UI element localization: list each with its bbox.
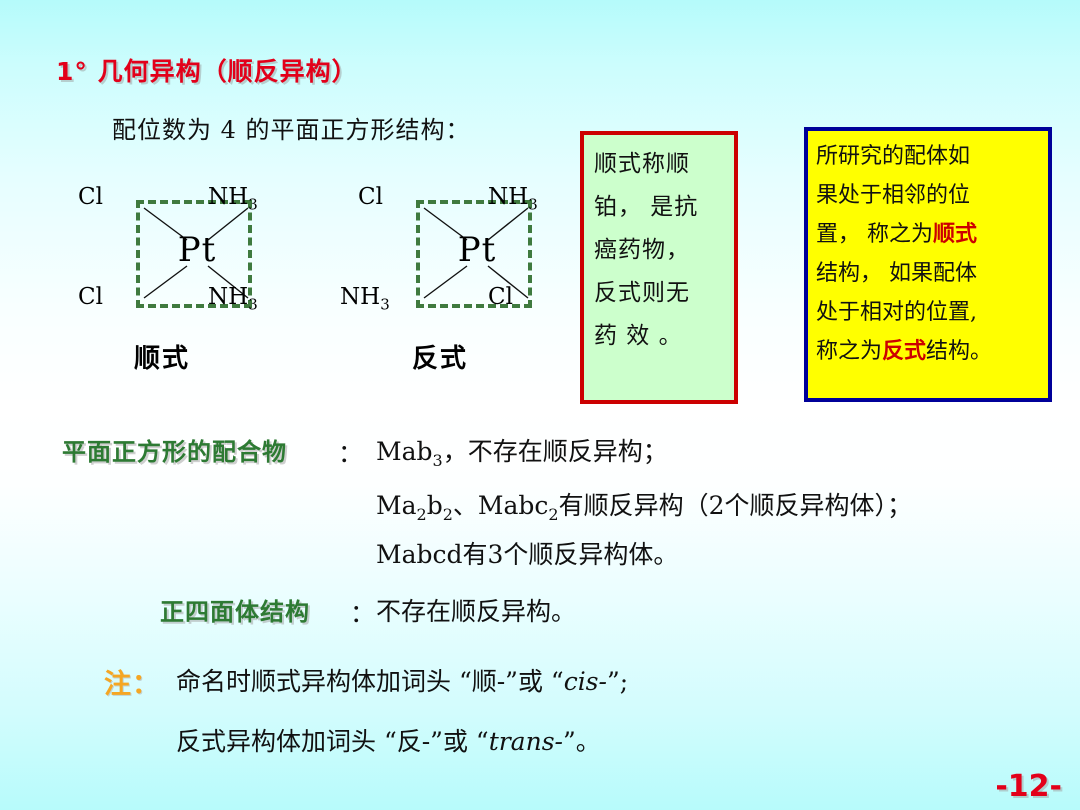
yellow-box-line6-pre: 称之为	[816, 339, 882, 364]
center-atom-label: Pt	[82, 230, 312, 270]
yellow-box-line: 处于相对的位置,	[816, 293, 1040, 332]
yellow-box-line: 称之为反式结构。	[816, 332, 1040, 371]
green-box-line: 癌药物，	[594, 229, 724, 272]
ligand-bottom-left: NH3	[340, 284, 390, 314]
body-line-mab3-text: ，不存在顺反异构；	[443, 437, 668, 466]
note-line-cis-pre: 命名时顺式异构体加词头 “顺-”或 “	[176, 667, 564, 696]
label-tetrahedral: 正四面体结构	[160, 592, 310, 627]
ligand-bottom-right-text: NH	[208, 284, 248, 310]
formula-mab-sub: 3	[433, 451, 443, 470]
green-box-line: 铂， 是抗	[594, 186, 724, 229]
ligand-top-left: Cl	[78, 184, 103, 210]
formula-mabc: 、Mabc	[453, 491, 549, 520]
ligand-bottom-left-sub: 3	[380, 296, 390, 314]
ligand-top-left-text: Cl	[78, 184, 103, 210]
ligand-top-right-text: NH	[208, 184, 248, 210]
label-tetrahedral-text: 正四面体结构	[160, 598, 310, 626]
body-line-mab3: Mab3，不存在顺反异构；	[376, 432, 668, 470]
ligand-bottom-right: NH3	[208, 284, 258, 314]
label-square-planar: 平面正方形的配合物	[62, 432, 287, 467]
body-line-mabcd: Mabcd有3个顺反异构体。	[376, 535, 678, 571]
yellow-box-line: 果处于相邻的位	[816, 176, 1040, 215]
highlight-cis: 顺式	[933, 221, 977, 247]
slide-canvas: 1° 几何异构（顺反异构） 配位数为 4 的平面正方形结构： Pt Cl NH3…	[0, 0, 1080, 810]
note-line-trans-pre: 反式异构体加词头 “反-”或 “	[176, 727, 489, 756]
ligand-bottom-left-text: Cl	[78, 284, 103, 310]
formula-ma: Ma	[376, 491, 417, 520]
note-line-cis-post: ”;	[607, 667, 628, 696]
page-number: -12-	[995, 769, 1062, 804]
caption-trans: 反式	[412, 338, 468, 375]
square-planar-colon: ：	[338, 434, 363, 470]
tetrahedral-colon: ：	[350, 594, 375, 630]
formula-mabc-sub: 2	[548, 505, 558, 524]
ligand-bottom-left-text: NH	[340, 284, 380, 310]
tetrahedral-text: 不存在顺反异构。	[376, 592, 576, 628]
formula-ma-sub: 2	[417, 505, 427, 524]
note-line-trans: 反式异构体加词头 “反-”或 “trans-”。	[176, 722, 601, 758]
ligand-top-right-sub: 3	[248, 196, 258, 214]
green-box-line: 药 效 。	[594, 315, 724, 358]
note-line-trans-italic: trans-	[489, 727, 563, 756]
yellow-box-line3-pre: 置， 称之为	[816, 222, 933, 247]
ligand-top-left-text: Cl	[358, 184, 383, 210]
caption-cis: 顺式	[134, 338, 190, 375]
label-square-planar-text: 平面正方形的配合物	[62, 438, 287, 466]
note-line-trans-post: ”。	[563, 727, 601, 756]
body-line-ma2b2-text: 有顺反异构（2个顺反异构体）；	[559, 491, 912, 520]
formula-b-sub: 2	[443, 505, 453, 524]
yellow-box-line: 结构， 如果配体	[816, 254, 1040, 293]
yellow-box-line: 所研究的配体如	[816, 137, 1040, 176]
green-box-line: 反式则无	[594, 272, 724, 315]
ligand-top-right: NH3	[488, 184, 538, 214]
ligand-bottom-left: Cl	[78, 284, 103, 310]
ligand-bottom-right-text: Cl	[488, 284, 513, 310]
subtitle-text: 配位数为 4 的平面正方形结构：	[112, 110, 471, 145]
ligand-bottom-right: Cl	[488, 284, 513, 310]
ligand-top-left: Cl	[358, 184, 383, 210]
formula-mab: Mab	[376, 437, 433, 466]
highlight-trans: 反式	[882, 338, 926, 364]
ligand-top-right-sub: 3	[528, 196, 538, 214]
center-atom-label: Pt	[362, 230, 592, 270]
body-line-ma2b2: Ma2b2、Mabc2有顺反异构（2个顺反异构体）；	[376, 486, 912, 524]
note-label: 注：	[104, 662, 160, 701]
yellow-box-line6-post: 结构。	[926, 339, 992, 364]
green-box-line: 顺式称顺	[594, 143, 724, 186]
note-line-cis-italic: cis-	[564, 667, 607, 696]
callout-box-green: 顺式称顺 铂， 是抗 癌药物， 反式则无 药 效 。	[580, 131, 738, 404]
molecule-diagram-trans: Pt Cl NH3 NH3 Cl	[362, 178, 592, 328]
callout-box-yellow: 所研究的配体如 果处于相邻的位 置， 称之为顺式 结构， 如果配体 处于相对的位…	[804, 127, 1052, 402]
yellow-box-line: 置， 称之为顺式	[816, 215, 1040, 254]
ligand-top-right: NH3	[208, 184, 258, 214]
molecule-diagram-cis: Pt Cl NH3 Cl NH3	[82, 178, 312, 328]
formula-b: b	[427, 491, 443, 520]
ligand-bottom-right-sub: 3	[248, 296, 258, 314]
page-title: 1° 几何异构（顺反异构）	[56, 52, 358, 88]
note-line-cis: 命名时顺式异构体加词头 “顺-”或 “cis-”;	[176, 662, 628, 698]
ligand-top-right-text: NH	[488, 184, 528, 210]
